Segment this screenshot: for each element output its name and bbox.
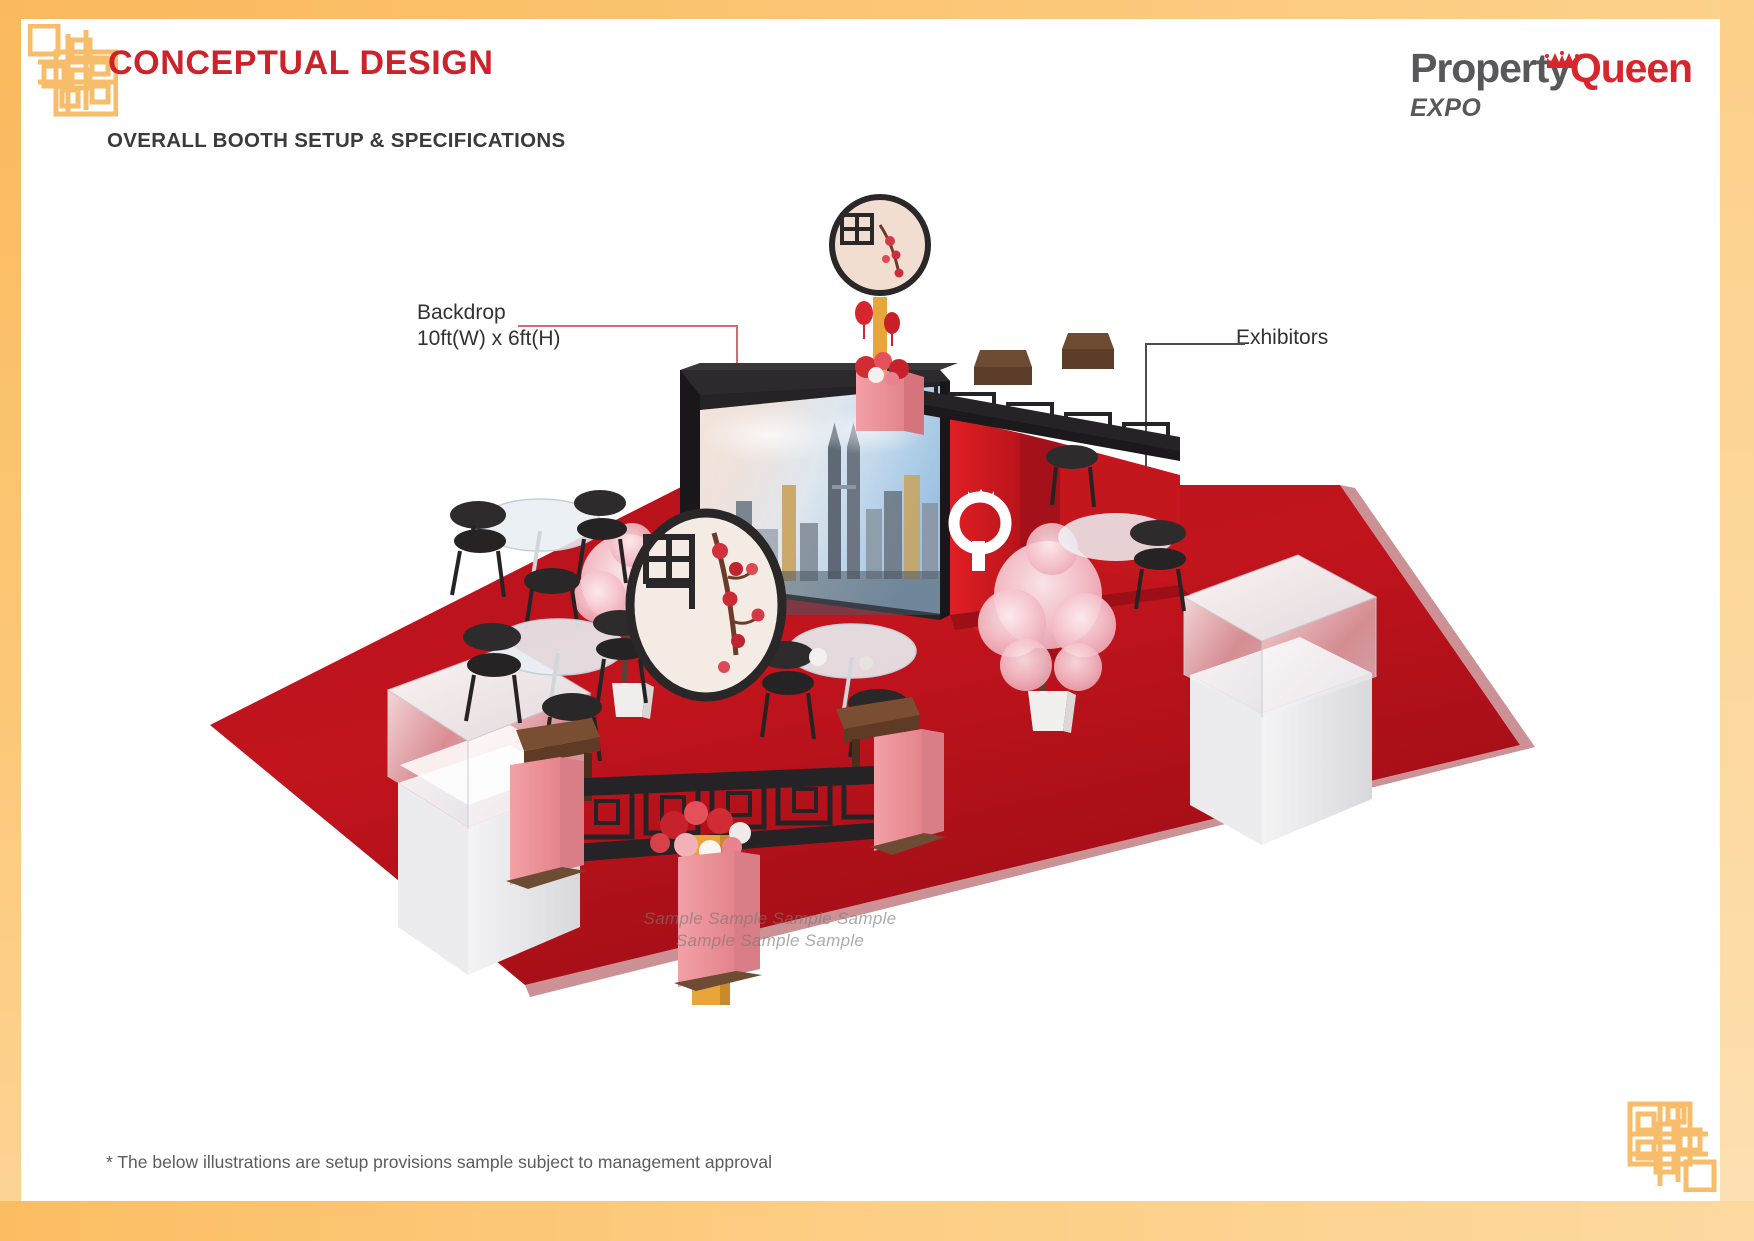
booth-3d-render [180,185,1580,1015]
podium-left [506,757,586,889]
slide-canvas: CONCEPTUAL DESIGN OVERALL BOOTH SETUP & … [0,0,1754,1241]
page-subtitle: OVERALL BOOTH SETUP & SPECIFICATIONS [107,129,565,153]
podium-right [870,729,946,855]
crown-icon [1545,35,1579,53]
frame-left-band [0,0,21,1241]
frame-top-band [0,0,1754,19]
footnote-text: * The below illustrations are setup prov… [106,1152,772,1173]
brand-wordmark: PropertyQueen [1410,48,1692,89]
frame-bottom-band [0,1201,1754,1241]
brand-tagline: EXPO [1410,96,1692,121]
frame-right-band [1720,0,1754,1241]
chinese-lattice-icon-corner [1626,1100,1718,1197]
wooden-caps [974,333,1114,385]
brand-word-queen: Queen [1570,45,1692,91]
brand-logo: PropertyQueen EXPO [1410,48,1692,121]
chinese-lattice-icon [28,24,118,124]
page-title: CONCEPTUAL DESIGN [108,44,494,83]
display-case-right [1184,555,1376,845]
